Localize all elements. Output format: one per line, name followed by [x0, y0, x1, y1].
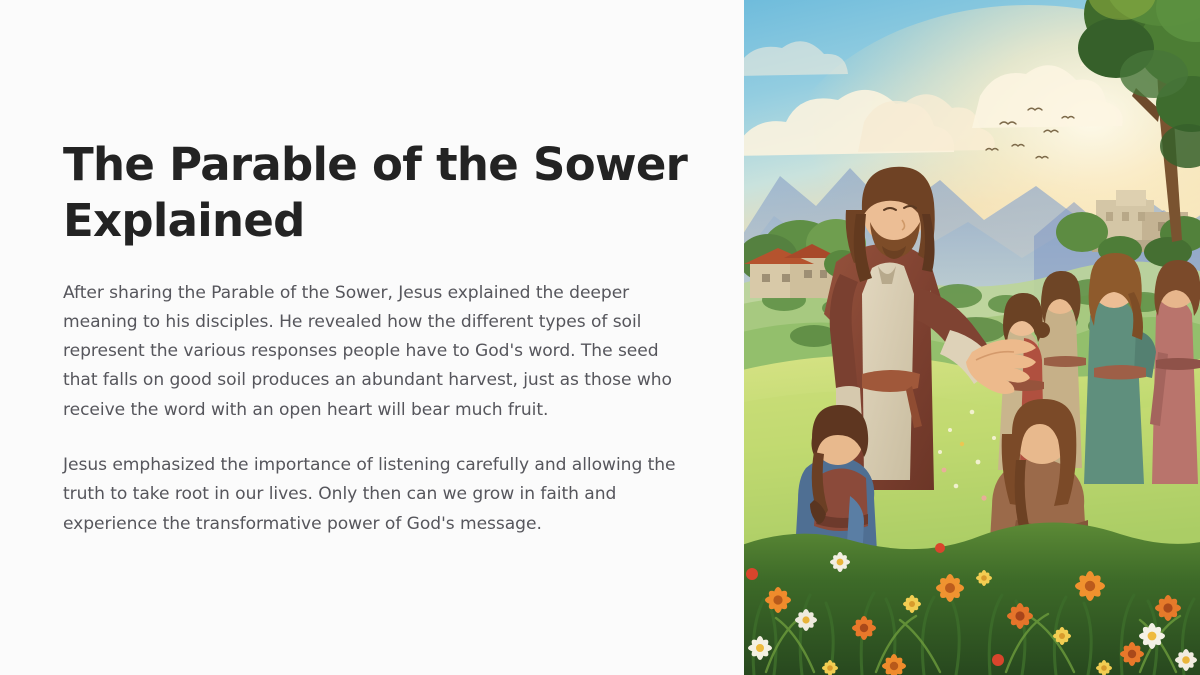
wildflower-foreground — [744, 522, 1200, 675]
scene-illustration — [744, 0, 1200, 675]
text-panel: The Parable of the Sower Explained After… — [0, 0, 744, 675]
illustration-panel — [744, 0, 1200, 675]
body-paragraph-1: After sharing the Parable of the Sower, … — [63, 279, 688, 425]
body-paragraph-2: Jesus emphasized the importance of liste… — [63, 451, 688, 539]
slide-root: The Parable of the Sower Explained After… — [0, 0, 1200, 675]
listener-rose — [1150, 260, 1200, 484]
text-block: The Parable of the Sower Explained After… — [63, 137, 688, 539]
page-title: The Parable of the Sower Explained — [63, 137, 688, 249]
